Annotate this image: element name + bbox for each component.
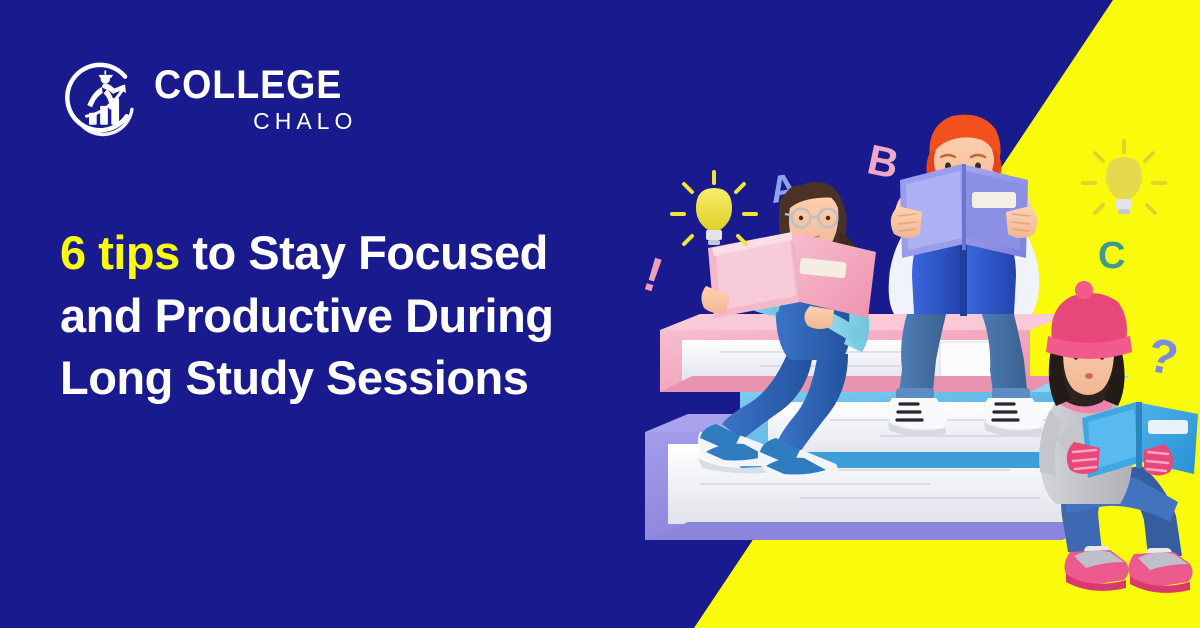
logo-wordmark: COLLEGE CHALO <box>154 65 354 133</box>
graduate-running-bar-chart-icon <box>58 55 144 143</box>
headline-line3: Long Study Sessions <box>60 351 528 404</box>
letter-c-decoration: C <box>1098 235 1125 278</box>
logo-primary-text: COLLEGE <box>154 65 342 105</box>
headline-line2: and Productive During <box>60 289 554 342</box>
headline-line1-rest: to Stay Focused <box>180 226 548 279</box>
page-title: 6 tips to Stay Focused and Productive Du… <box>60 222 680 410</box>
headline-highlight: 6 tips <box>60 226 180 279</box>
logo-secondary-text: CHALO <box>253 110 357 133</box>
logo[interactable]: COLLEGE CHALO <box>58 55 354 143</box>
banner-root: COLLEGE CHALO 6 tips to Stay Focused and… <box>0 0 1200 628</box>
